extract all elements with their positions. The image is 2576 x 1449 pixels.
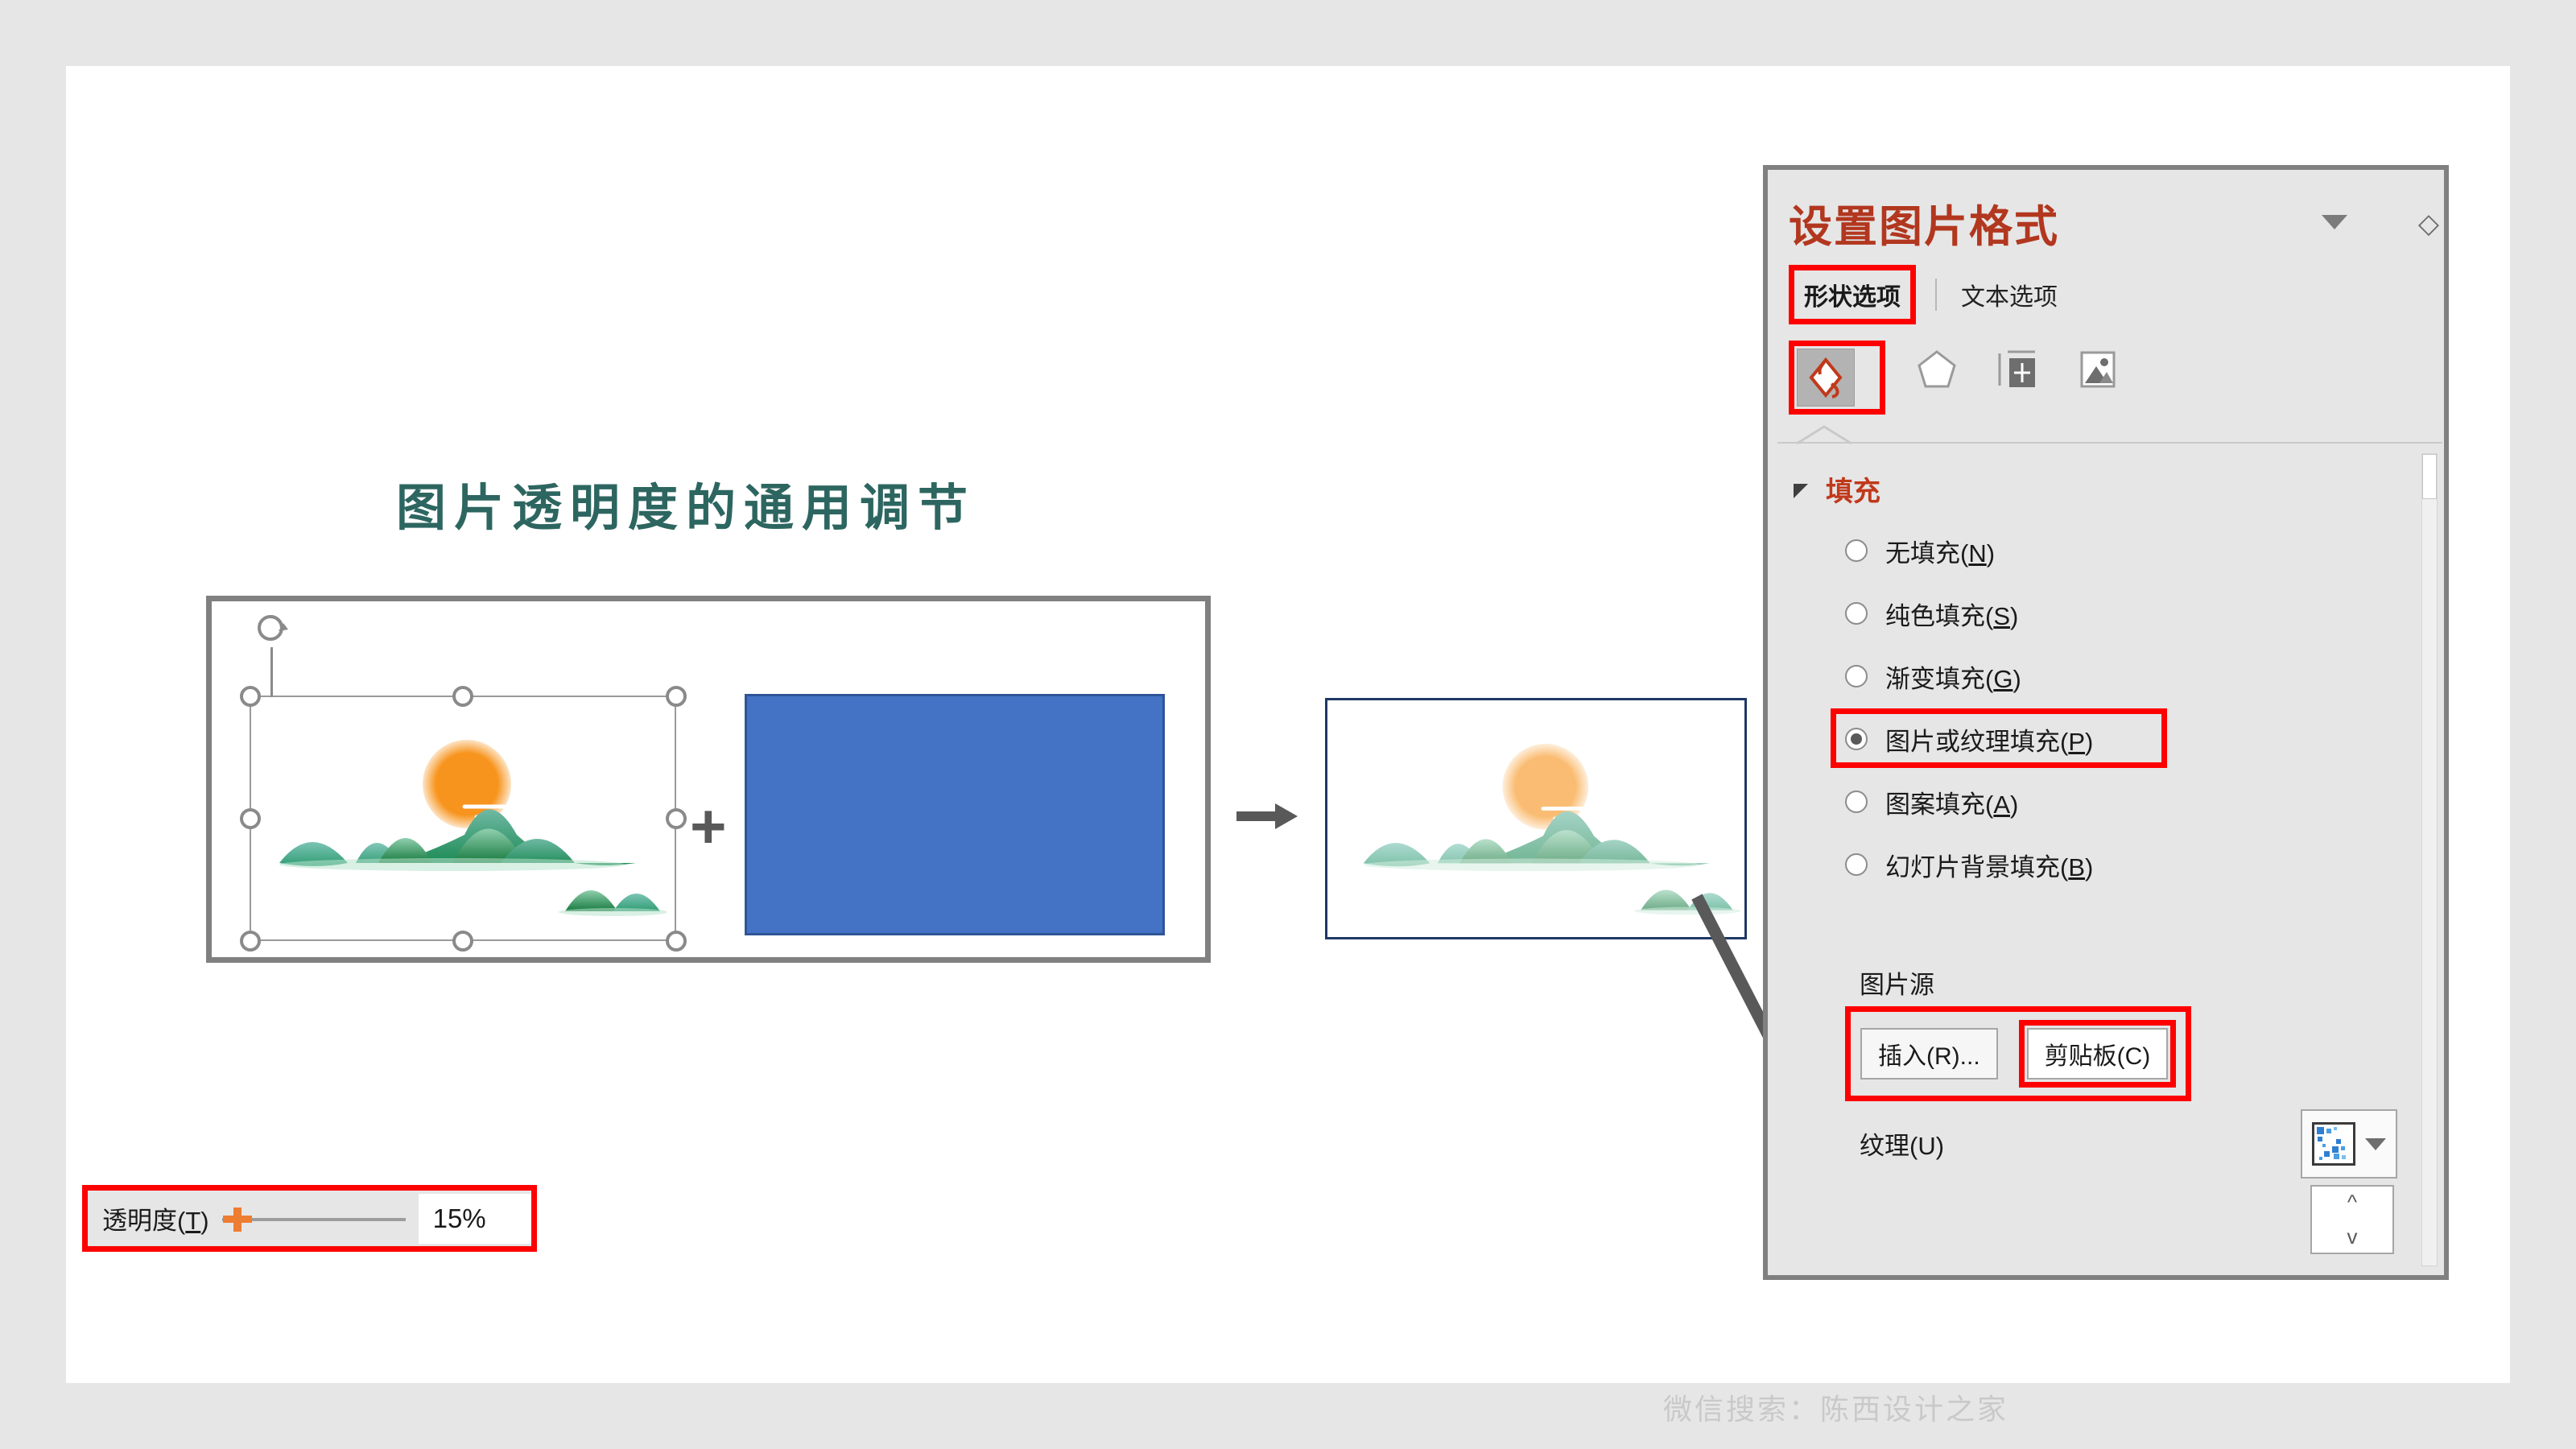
- plus-sign: +: [690, 795, 727, 857]
- radio-row-gradient-fill[interactable]: 渐变填充(G): [1845, 656, 2093, 696]
- resize-handle-n[interactable]: [452, 686, 473, 707]
- icon-tab-fill-line[interactable]: [1797, 349, 1855, 407]
- icon-tab-effects[interactable]: [1908, 341, 1966, 398]
- blue-rectangle-shape[interactable]: [745, 694, 1165, 935]
- fill-section-header[interactable]: 填充: [1794, 469, 1880, 509]
- picture-source-label: 图片源: [1860, 964, 1934, 1001]
- radio-solid-fill[interactable]: [1845, 602, 1868, 625]
- panel-tabs: 形状选项 文本选项: [1789, 265, 2058, 324]
- radio-slide-background-fill[interactable]: [1845, 853, 1868, 876]
- picture-icon: [2077, 349, 2119, 390]
- resize-handle-s[interactable]: [452, 931, 473, 952]
- slider-thumb[interactable]: [233, 1207, 242, 1232]
- panel-title: 设置图片格式: [1789, 191, 2059, 254]
- clipboard-button-highlight: 剪贴板(C): [2019, 1020, 2177, 1088]
- fill-options-list: 无填充(N) 纯色填充(S) 渐变填充(G) 图片或纹理填充(P): [1845, 530, 2093, 907]
- transparency-row-highlight: 透明度(T) 15%: [82, 1185, 537, 1252]
- picture-source-buttons-highlight: 插入(R)... 剪贴板(C): [1845, 1006, 2191, 1101]
- size-properties-icon: [1995, 349, 2040, 390]
- tab-divider: [1935, 279, 1937, 311]
- caret-down-icon[interactable]: v: [2347, 1225, 2358, 1249]
- resize-handle-w[interactable]: [240, 808, 261, 829]
- transparency-spinner[interactable]: ^ v: [2310, 1185, 2394, 1254]
- resize-handle-sw[interactable]: [240, 931, 261, 952]
- radio-picture-texture-fill[interactable]: [1845, 728, 1868, 750]
- transparency-label: 透明度(T): [88, 1191, 209, 1246]
- radio-row-picture-texture-fill[interactable]: 图片或纹理填充(P): [1845, 719, 2093, 759]
- icon-tab-picture[interactable]: [2069, 341, 2127, 398]
- fill-icon-highlight: [1789, 341, 1885, 415]
- selection-bounding-box: [250, 696, 676, 941]
- panel-divider: [1777, 442, 2442, 444]
- caret-up-icon[interactable]: ^: [2347, 1191, 2357, 1214]
- radio-row-no-fill[interactable]: 无填充(N): [1845, 530, 2093, 571]
- tab-shape-options-highlight: 形状选项: [1789, 265, 1916, 324]
- resize-handle-ne[interactable]: [666, 686, 687, 707]
- resize-handle-se[interactable]: [666, 931, 687, 952]
- resize-handle-e[interactable]: [666, 808, 687, 829]
- radio-row-pattern-fill[interactable]: 图案填充(A): [1845, 782, 2093, 822]
- chevron-down-icon[interactable]: [2322, 215, 2347, 229]
- texture-label: 纹理(U): [1860, 1125, 1944, 1162]
- fill-line-icon: [1807, 357, 1844, 398]
- radio-label-slide-background-fill: 幻灯片背景填充(B): [1885, 847, 2093, 883]
- tab-shape-options[interactable]: 形状选项: [1796, 272, 1909, 317]
- radio-label-no-fill: 无填充(N): [1885, 533, 1995, 569]
- chevron-down-icon[interactable]: [2365, 1138, 2386, 1150]
- page-title: 图片透明度的通用调节: [396, 467, 976, 539]
- panel-scrollbar[interactable]: [2421, 453, 2438, 1266]
- transparency-slider[interactable]: [222, 1203, 406, 1235]
- resize-handle-nw[interactable]: [240, 686, 261, 707]
- radio-row-slide-background-fill[interactable]: 幻灯片背景填充(B): [1845, 844, 2093, 885]
- effects-pentagon-icon: [1916, 349, 1958, 390]
- texture-preview-icon: [2312, 1122, 2355, 1166]
- right-arrow-icon: [1235, 797, 1299, 836]
- collapse-triangle-icon: [1794, 484, 1808, 498]
- radio-no-fill[interactable]: [1845, 539, 1868, 562]
- transparency-value[interactable]: 15%: [419, 1194, 531, 1244]
- radio-label-solid-fill: 纯色填充(S): [1885, 596, 2018, 632]
- radio-label-pattern-fill: 图案填充(A): [1885, 784, 2018, 820]
- insert-picture-button[interactable]: 插入(R)...: [1860, 1028, 1998, 1080]
- icon-tab-size-properties[interactable]: [1988, 341, 2046, 398]
- texture-swatch-dropdown[interactable]: [2301, 1109, 2397, 1179]
- panel-icon-tabs: [1789, 341, 2149, 415]
- rotate-handle-stem: [270, 647, 273, 697]
- radio-label-picture-texture-fill: 图片或纹理填充(P): [1885, 721, 2093, 758]
- scrollbar-thumb[interactable]: [2422, 454, 2437, 499]
- radio-gradient-fill[interactable]: [1845, 665, 1868, 687]
- radio-label-gradient-fill: 渐变填充(G): [1885, 658, 2021, 695]
- radio-row-solid-fill[interactable]: 纯色填充(S): [1845, 593, 2093, 634]
- radio-pattern-fill[interactable]: [1845, 791, 1868, 813]
- fill-section-title: 填充: [1826, 469, 1880, 509]
- clipboard-button[interactable]: 剪贴板(C): [2027, 1028, 2169, 1080]
- close-icon[interactable]: ◇: [2418, 210, 2439, 237]
- tab-text-options[interactable]: 文本选项: [1961, 277, 2058, 312]
- rotate-handle-icon[interactable]: [254, 612, 290, 647]
- watermark: 微信搜索：陈西设计之家: [1663, 1386, 2008, 1428]
